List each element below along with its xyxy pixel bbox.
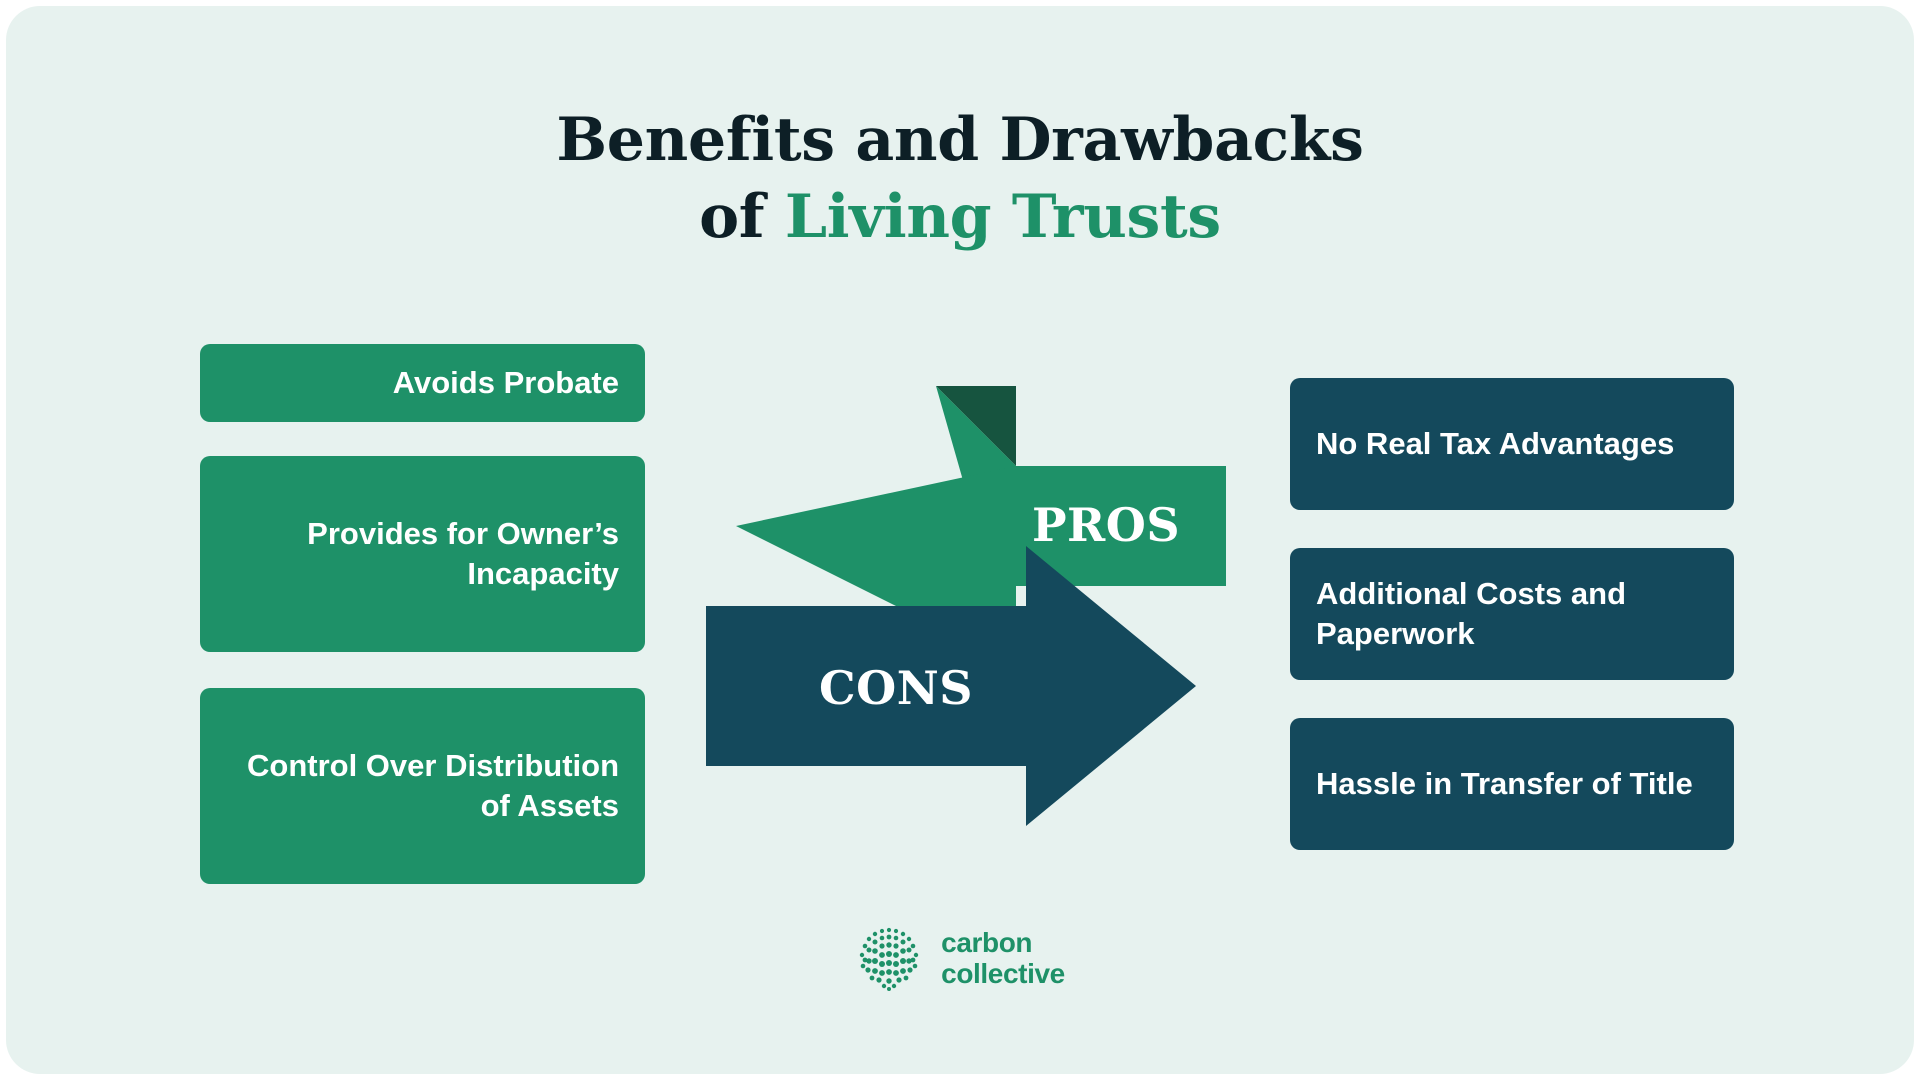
pros-arrow-label: PROS xyxy=(1032,498,1180,552)
pros-cons-arrows: PROS CONS xyxy=(706,386,1226,826)
cons-item-2[interactable]: Hassle in Transfer of Title xyxy=(1290,718,1734,850)
cons-item-2-label: Hassle in Transfer of Title xyxy=(1316,764,1693,804)
page-title: Benefits and Drawbacks of Living Trusts xyxy=(6,102,1914,256)
cons-item-0-label: No Real Tax Advantages xyxy=(1316,424,1674,464)
brand-wordmark-line-1: carbon xyxy=(941,927,1065,958)
cons-item-1-label: Additional Costs and Paperwork xyxy=(1316,574,1708,653)
brand-wordmark: carbon collective xyxy=(941,927,1065,990)
infographic-canvas: Benefits and Drawbacks of Living Trusts … xyxy=(0,0,1920,1080)
pros-item-2[interactable]: Control Over Distribution of Assets xyxy=(200,688,645,884)
pros-item-0[interactable]: Avoids Probate xyxy=(200,344,645,422)
cons-item-0[interactable]: No Real Tax Advantages xyxy=(1290,378,1734,510)
title-line-2-accent: Living Trusts xyxy=(785,182,1221,252)
title-line-2: of Living Trusts xyxy=(6,179,1914,256)
infographic-panel: Benefits and Drawbacks of Living Trusts … xyxy=(6,6,1914,1074)
pros-item-1[interactable]: Provides for Owner’s Incapacity xyxy=(200,456,645,652)
pros-item-0-label: Avoids Probate xyxy=(393,363,619,403)
dot-cluster-circle-icon xyxy=(855,924,923,992)
title-line-2-prefix: of xyxy=(699,182,785,252)
pros-item-2-label: Control Over Distribution of Assets xyxy=(226,746,619,825)
title-line-1: Benefits and Drawbacks xyxy=(6,102,1914,179)
cons-arrow-label: CONS xyxy=(819,661,973,715)
pros-item-1-label: Provides for Owner’s Incapacity xyxy=(226,514,619,593)
cons-item-1[interactable]: Additional Costs and Paperwork xyxy=(1290,548,1734,680)
brand-logo: carbon collective xyxy=(6,924,1914,992)
brand-wordmark-line-2: collective xyxy=(941,958,1065,989)
